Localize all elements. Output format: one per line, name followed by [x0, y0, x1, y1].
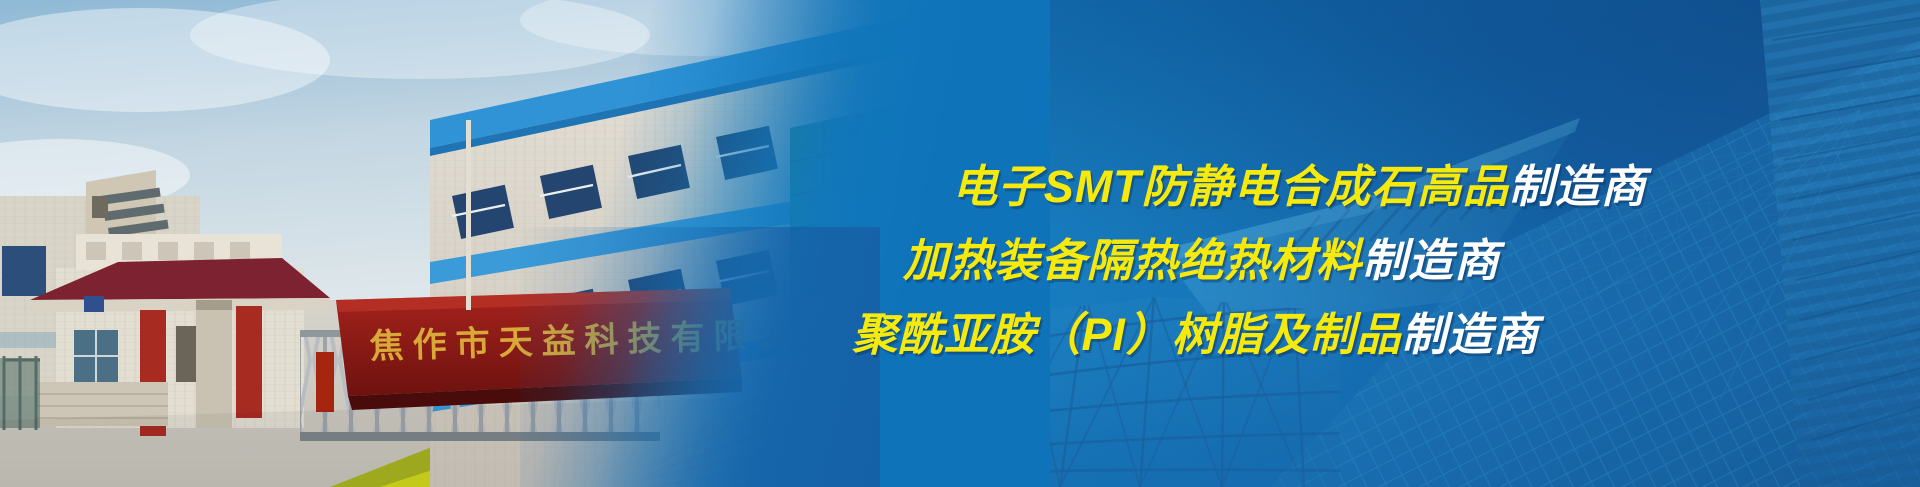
headline-line-2: 加热装备隔热绝热材料制造商 — [903, 224, 1500, 289]
headline-line-3-suffix: 制造商 — [1401, 309, 1539, 360]
headline-line-1: 电子SMT防静电合成石高品制造商 — [952, 150, 1646, 215]
headline-line-2-highlight: 加热装备隔热绝热材料 — [903, 235, 1362, 286]
headline-line-1-highlight: 电子SMT防静电合成石高品 — [952, 161, 1509, 212]
headline-line-2-suffix: 制造商 — [1362, 235, 1500, 286]
hero-banner: 焦作市天益科技有限公司 电子SMT防静电合成石高品制造商 加热装备隔热绝热材料制… — [0, 0, 1920, 487]
headline-block: 电子SMT防静电合成石高品制造商 加热装备隔热绝热材料制造商 聚酰亚胺（PI）树… — [0, 0, 1920, 487]
headline-line-3-highlight: 聚酰亚胺（PI）树脂及制品 — [852, 309, 1401, 360]
headline-line-3: 聚酰亚胺（PI）树脂及制品制造商 — [852, 298, 1539, 363]
headline-line-1-suffix: 制造商 — [1509, 161, 1647, 212]
